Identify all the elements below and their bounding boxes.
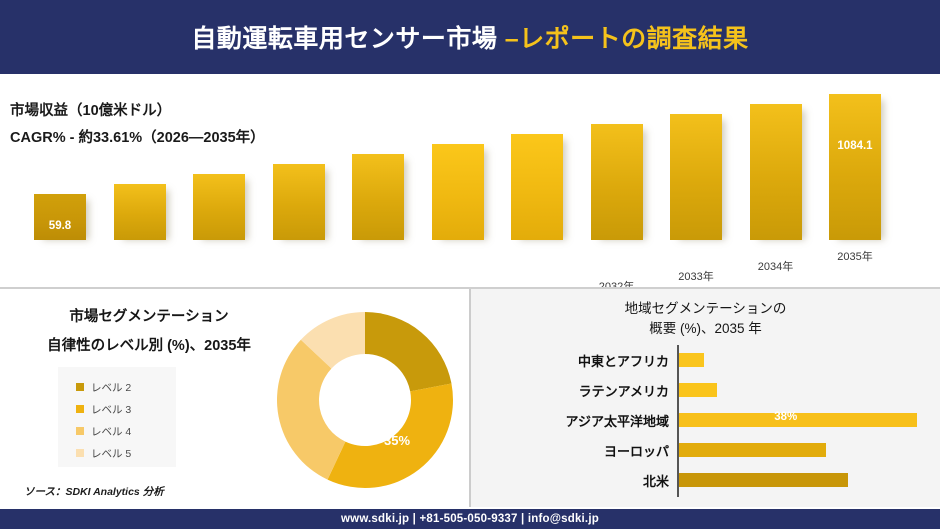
slide-footer: www.sdki.jp | +81-505-050-9337 | info@sd… bbox=[0, 509, 940, 529]
legend-item[interactable]: レベル 2 bbox=[76, 376, 176, 398]
revenue-bar: 1084.1 bbox=[829, 94, 881, 240]
footer-contact-text: www.sdki.jp | +81-505-050-9337 | info@sd… bbox=[341, 513, 599, 525]
legend-item[interactable]: レベル 3 bbox=[76, 398, 176, 420]
revenue-bar bbox=[432, 144, 484, 240]
legend-item-label: レベル 3 bbox=[91, 402, 131, 417]
donut-chart-svg bbox=[270, 305, 460, 495]
page-title-main: 自動運転車用センサー市場 bbox=[191, 25, 504, 53]
donut-chart: 35% bbox=[270, 305, 460, 495]
revenue-bar-group: 2029年 bbox=[352, 154, 404, 240]
region-bar-row: ヨーロッパ bbox=[471, 435, 940, 465]
revenue-bar-group: 2033年 bbox=[670, 114, 722, 240]
revenue-x-label: 2035年 bbox=[817, 248, 893, 264]
revenue-bar bbox=[750, 104, 802, 240]
legend-item-label: レベル 2 bbox=[91, 380, 131, 395]
region-bar-label: 北米 bbox=[471, 471, 669, 490]
revenue-bar bbox=[670, 114, 722, 240]
region-bar-label: ヨーロッパ bbox=[471, 441, 669, 460]
revenue-bar-group: 2032年 bbox=[591, 124, 643, 240]
revenue-bar-value: 1084.1 bbox=[829, 140, 881, 152]
revenue-bar bbox=[114, 184, 166, 240]
region-panel: 地域セグメンテーションの 概要 (%)、2035 年 中東とアフリカラテンアメリ… bbox=[471, 289, 940, 507]
revenue-bar-group: 2028年 bbox=[273, 164, 325, 240]
legend-item-label: レベル 4 bbox=[91, 424, 131, 439]
region-bar bbox=[679, 473, 848, 487]
revenue-bar-group: 2027年 bbox=[193, 174, 245, 240]
revenue-bar bbox=[591, 124, 643, 240]
legend-item[interactable]: レベル 5 bbox=[76, 442, 176, 464]
region-bar-row: アジア太平洋地域38% bbox=[471, 405, 940, 435]
region-title-line-2: 概要 (%)、2035 年 bbox=[471, 319, 940, 339]
revenue-bar-value: 59.8 bbox=[34, 220, 86, 232]
revenue-bar-group: 1084.12035年 bbox=[829, 94, 881, 240]
region-bar bbox=[679, 443, 826, 457]
legend-item[interactable]: レベル 4 bbox=[76, 420, 176, 442]
donut-value-label: 35% bbox=[384, 433, 410, 448]
revenue-bar: 59.8 bbox=[34, 194, 86, 240]
segmentation-panel: 市場セグメンテーション 自律性のレベル別 (%)、2035年 レベル 2レベル … bbox=[0, 289, 469, 507]
legend-swatch-icon bbox=[76, 405, 84, 413]
segmentation-legend: レベル 2レベル 3レベル 4レベル 5 bbox=[58, 367, 176, 467]
slide-header: 自動運転車用センサー市場 –レポートの調査結果 bbox=[0, 0, 940, 74]
revenue-bar-group: 2030年 bbox=[432, 144, 484, 240]
region-title: 地域セグメンテーションの 概要 (%)、2035 年 bbox=[471, 299, 940, 339]
revenue-bars-container: 59.82025年2026年2027年2028年2029年2030年2031年2… bbox=[34, 90, 916, 266]
region-bar-label: 中東とアフリカ bbox=[471, 351, 669, 370]
revenue-bar bbox=[352, 154, 404, 240]
page-title: 自動運転車用センサー市場 –レポートの調査結果 bbox=[191, 19, 748, 55]
region-bar bbox=[679, 383, 717, 397]
revenue-bar-group: 59.82025年 bbox=[34, 194, 86, 240]
region-title-line-1: 地域セグメンテーションの bbox=[471, 299, 940, 319]
legend-swatch-icon bbox=[76, 383, 84, 391]
revenue-bar bbox=[511, 134, 563, 240]
revenue-x-label: 2034年 bbox=[738, 258, 814, 274]
segmentation-title: 市場セグメンテーション 自律性のレベル別 (%)、2035年 bbox=[24, 303, 274, 361]
region-bar bbox=[679, 413, 917, 427]
region-bar-row: 北米 bbox=[471, 465, 940, 495]
page-title-accent: –レポートの調査結果 bbox=[505, 25, 749, 53]
revenue-bar-group: 2031年 bbox=[511, 134, 563, 240]
segmentation-title-line-1: 市場セグメンテーション bbox=[24, 303, 274, 332]
donut-slice bbox=[365, 312, 451, 391]
revenue-bar-group: 2034年 bbox=[750, 104, 802, 240]
region-bars-container: 中東とアフリカラテンアメリカアジア太平洋地域38%ヨーロッパ北米 bbox=[471, 345, 940, 497]
revenue-chart-section: 市場収益（10億米ドル） CAGR% - 約33.61%（2026―2035年）… bbox=[0, 74, 940, 287]
revenue-bar-group: 2026年 bbox=[114, 184, 166, 240]
region-bar bbox=[679, 353, 704, 367]
legend-swatch-icon bbox=[76, 449, 84, 457]
segmentation-title-line-2: 自律性のレベル別 (%)、2035年 bbox=[24, 332, 274, 361]
region-bar-value: 38% bbox=[774, 411, 797, 423]
legend-item-label: レベル 5 bbox=[91, 446, 131, 461]
revenue-bar bbox=[193, 174, 245, 240]
source-note: ソース：SDKI Analytics 分析 bbox=[24, 484, 164, 499]
region-bar-row: 中東とアフリカ bbox=[471, 345, 940, 375]
revenue-x-label: 2033年 bbox=[658, 268, 734, 284]
legend-swatch-icon bbox=[76, 427, 84, 435]
revenue-bar bbox=[273, 164, 325, 240]
region-bar-row: ラテンアメリカ bbox=[471, 375, 940, 405]
region-bar-label: ラテンアメリカ bbox=[471, 381, 669, 400]
slide-root: 自動運転車用センサー市場 –レポートの調査結果 市場収益（10億米ドル） CAG… bbox=[0, 0, 940, 529]
region-bar-label: アジア太平洋地域 bbox=[471, 411, 669, 430]
